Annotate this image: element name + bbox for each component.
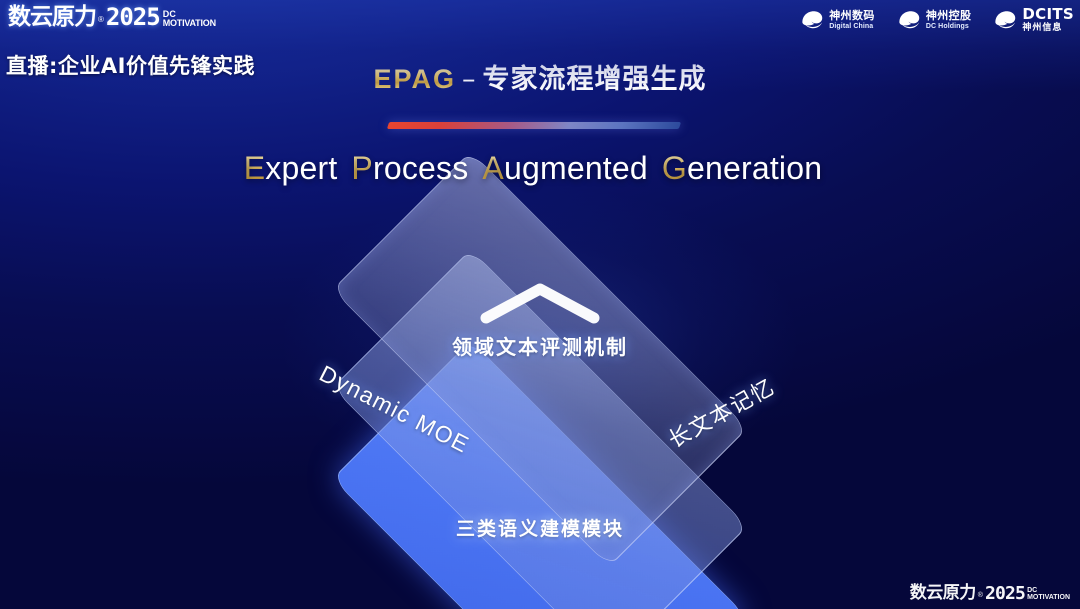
stack-layer-bottom-label: 三类语义建模模块: [456, 514, 624, 541]
partner-logo-dc-holdings: 神州控股 DC Holdings: [897, 9, 972, 31]
subtitle-rest: rocess: [373, 150, 468, 186]
partner-name-en: DC Holdings: [926, 23, 972, 30]
subtitle-initial: E: [244, 150, 266, 186]
gradient-divider: [387, 122, 681, 129]
top-bar: 数云原力 ® 2025 DC MOTIVATION 直播:企业AI价值先锋实践 …: [0, 0, 1080, 92]
subtitle-word-process: Process: [351, 150, 468, 186]
partner-name-cn: 神州控股: [926, 10, 972, 21]
chevron-up-icon: [478, 280, 602, 326]
subtitle-initial: G: [662, 150, 687, 186]
swoosh-icon: [897, 9, 921, 31]
partner-text: DCITS 神州信息: [1022, 7, 1074, 33]
subtitle-initial: A: [482, 150, 504, 186]
partner-logo-dcits: DCITS 神州信息: [993, 7, 1074, 33]
subtitle-initial: P: [351, 150, 373, 186]
stack-layer-top-label: 领域文本评测机制: [452, 331, 628, 360]
brand-name-cn: 数云原力: [8, 4, 96, 30]
partner-text: 神州控股 DC Holdings: [926, 10, 972, 30]
watermark-year: 2025: [985, 584, 1025, 603]
slide-canvas: 数云原力 ® 2025 DC MOTIVATION 直播:企业AI价值先锋实践 …: [0, 0, 1080, 609]
brand-tagline-line2: MOTIVATION: [163, 19, 216, 28]
partner-logos: 神州数码 Digital China 神州控股 DC Holdings: [800, 7, 1074, 33]
subtitle-rest: xpert: [265, 150, 337, 186]
partner-name-en: Digital China: [829, 23, 875, 30]
partner-name-en: DCITS: [1022, 7, 1074, 22]
partner-name-cn: 神州数码: [829, 10, 875, 21]
watermark-registered-mark: ®: [978, 589, 983, 603]
subtitle-word-generation: Generation: [662, 150, 822, 186]
subtitle-rest: eneration: [687, 150, 822, 186]
subtitle-rest: ugmented: [504, 150, 648, 186]
subtitle-word-expert: Expert: [244, 150, 338, 186]
watermark-tagline: DC MOTIVATION: [1027, 587, 1070, 601]
partner-name-cn: 神州信息: [1022, 24, 1074, 33]
live-subtitle: 直播:企业AI价值先锋实践: [6, 50, 255, 80]
layer-stack-diagram: 领域文本评测机制 Dynamic MOE 长文本记忆 三类语义建模模块: [270, 236, 810, 576]
watermark-tagline-line1: DC: [1027, 587, 1070, 594]
swoosh-icon: [993, 9, 1017, 31]
watermark-tagline-line2: MOTIVATION: [1027, 594, 1070, 601]
swoosh-icon: [800, 9, 824, 31]
page-subtitle: ExpertProcessAugmentedGeneration: [0, 150, 1080, 187]
watermark-name-cn: 数云原力: [910, 584, 976, 603]
brand-registered-mark: ®: [98, 10, 104, 30]
brand-year: 2025: [106, 4, 160, 30]
brand-logo: 数云原力 ® 2025 DC MOTIVATION: [8, 4, 216, 30]
partner-logo-digital-china: 神州数码 Digital China: [800, 9, 875, 31]
partner-text: 神州数码 Digital China: [829, 10, 875, 30]
footer-watermark-logo: 数云原力 ® 2025 DC MOTIVATION: [910, 584, 1070, 603]
subtitle-word-augmented: Augmented: [482, 150, 647, 186]
brand-tagline: DC MOTIVATION: [163, 10, 216, 28]
